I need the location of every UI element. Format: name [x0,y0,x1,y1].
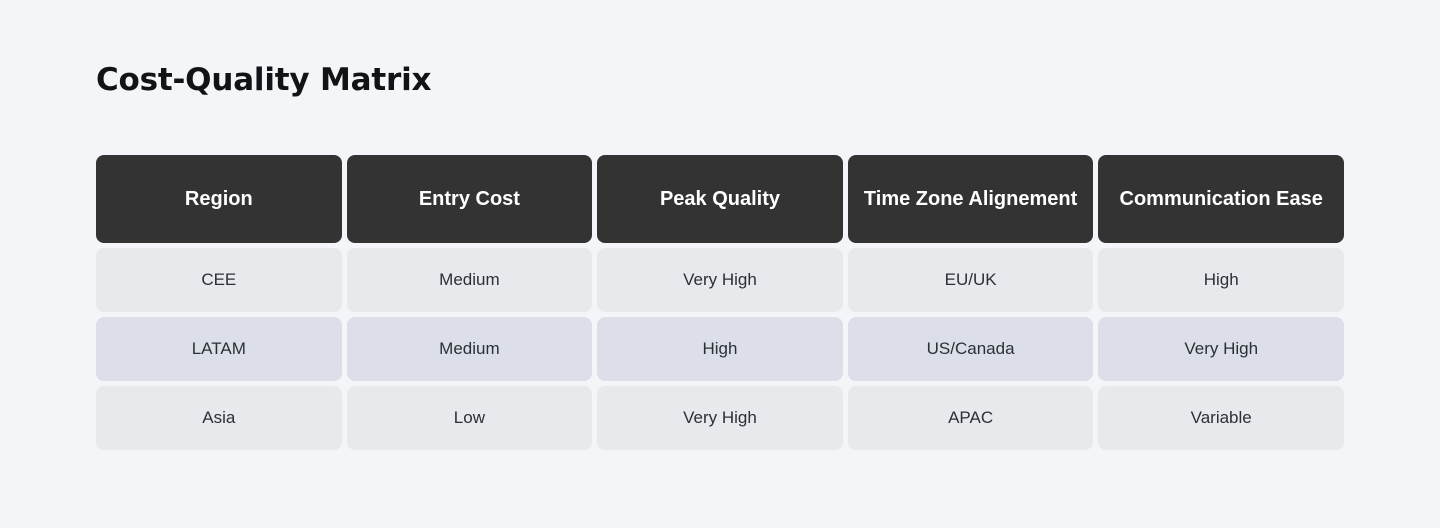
cell-time-zone-alignement: APAC [848,386,1094,450]
cell-time-zone-alignement: EU/UK [848,248,1094,312]
column-header-entry-cost: Entry Cost [347,155,593,243]
table-header-row: Region Entry Cost Peak Quality Time Zone… [96,155,1344,243]
column-header-time-zone-alignement: Time Zone Alignement [848,155,1094,243]
cell-peak-quality: Very High [597,386,843,450]
cell-entry-cost: Medium [347,317,593,381]
cell-region: LATAM [96,317,342,381]
column-header-region: Region [96,155,342,243]
cost-quality-matrix-table: Region Entry Cost Peak Quality Time Zone… [96,155,1344,450]
cell-entry-cost: Low [347,386,593,450]
table-row: CEE Medium Very High EU/UK High [96,248,1344,312]
table-row: Asia Low Very High APAC Variable [96,386,1344,450]
cell-region: CEE [96,248,342,312]
cell-entry-cost: Medium [347,248,593,312]
column-header-communication-ease: Communication Ease [1098,155,1344,243]
column-header-peak-quality: Peak Quality [597,155,843,243]
cell-communication-ease: Variable [1098,386,1344,450]
cell-peak-quality: High [597,317,843,381]
cell-peak-quality: Very High [597,248,843,312]
page-root: Cost-Quality Matrix Region Entry Cost Pe… [0,0,1440,528]
cell-region: Asia [96,386,342,450]
page-title: Cost-Quality Matrix [96,62,431,98]
cell-communication-ease: High [1098,248,1344,312]
cell-time-zone-alignement: US/Canada [848,317,1094,381]
table-row: LATAM Medium High US/Canada Very High [96,317,1344,381]
cell-communication-ease: Very High [1098,317,1344,381]
